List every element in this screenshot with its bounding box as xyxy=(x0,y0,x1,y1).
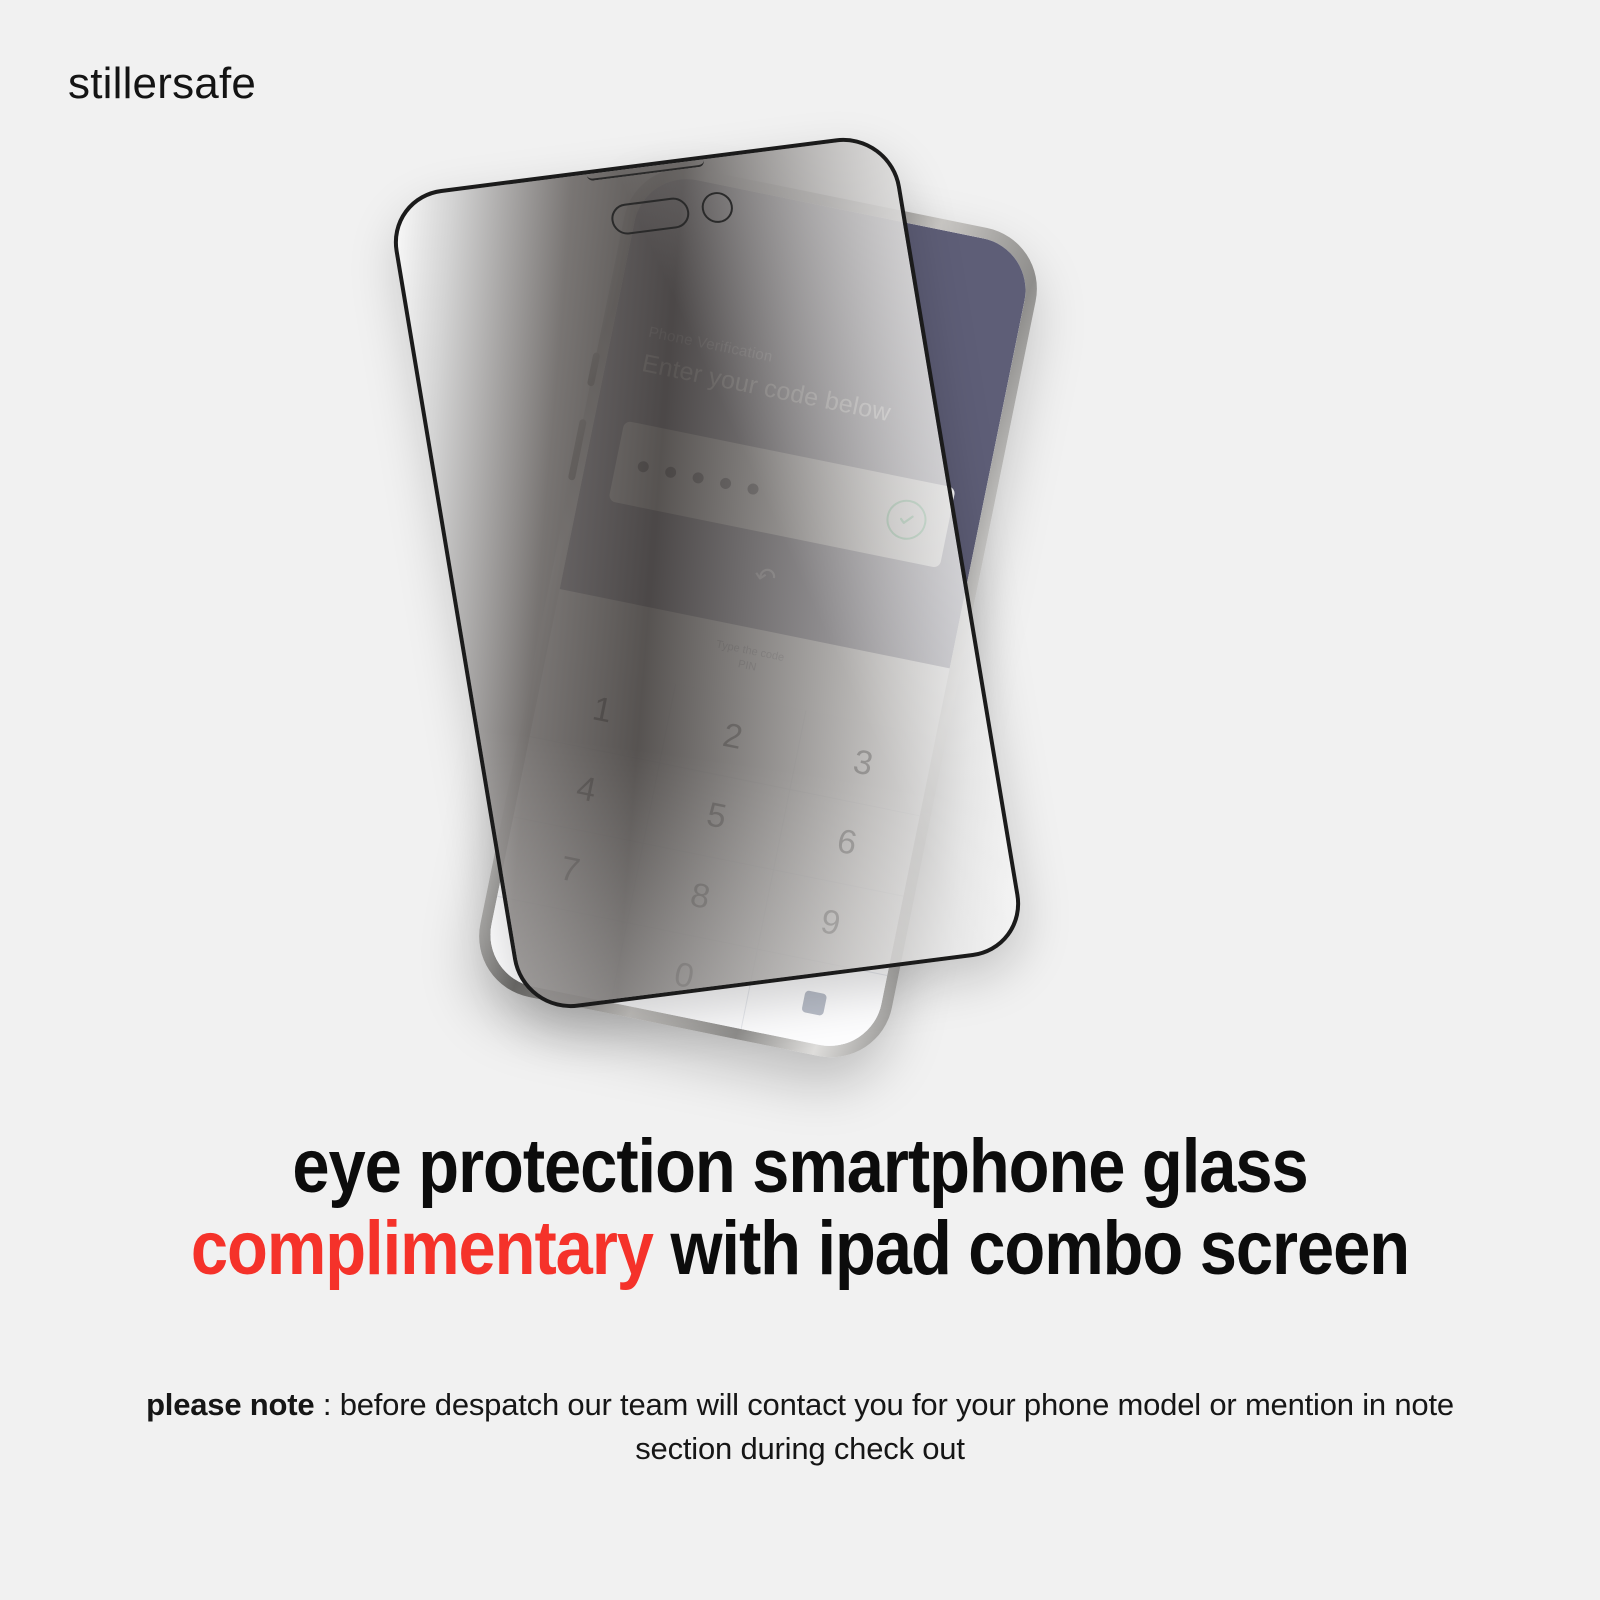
camera-cutout xyxy=(699,190,735,225)
note-body: before despatch our team will contact yo… xyxy=(340,1387,1454,1466)
brand-logo: stillersafe xyxy=(68,62,256,106)
note-label: please note xyxy=(146,1387,314,1422)
note-text: please note : before despatch our team w… xyxy=(100,1383,1500,1471)
note-separator: : xyxy=(314,1387,339,1422)
headline-line-2-rest: with ipad combo screen xyxy=(653,1206,1409,1291)
speaker-cutout xyxy=(609,196,692,236)
headline-line-1: eye protection smartphone glass xyxy=(96,1126,1504,1208)
promo-canvas: stillersafe Phone Verification Enter you… xyxy=(0,0,1600,1600)
headline-accent-word: complimentary xyxy=(191,1206,653,1291)
headline-line-2: complimentary with ipad combo screen xyxy=(96,1208,1504,1290)
product-hero-image: Phone Verification Enter your code below xyxy=(0,120,1600,1070)
headline: eye protection smartphone glass complime… xyxy=(96,1126,1504,1290)
backspace-glyph xyxy=(801,990,827,1016)
